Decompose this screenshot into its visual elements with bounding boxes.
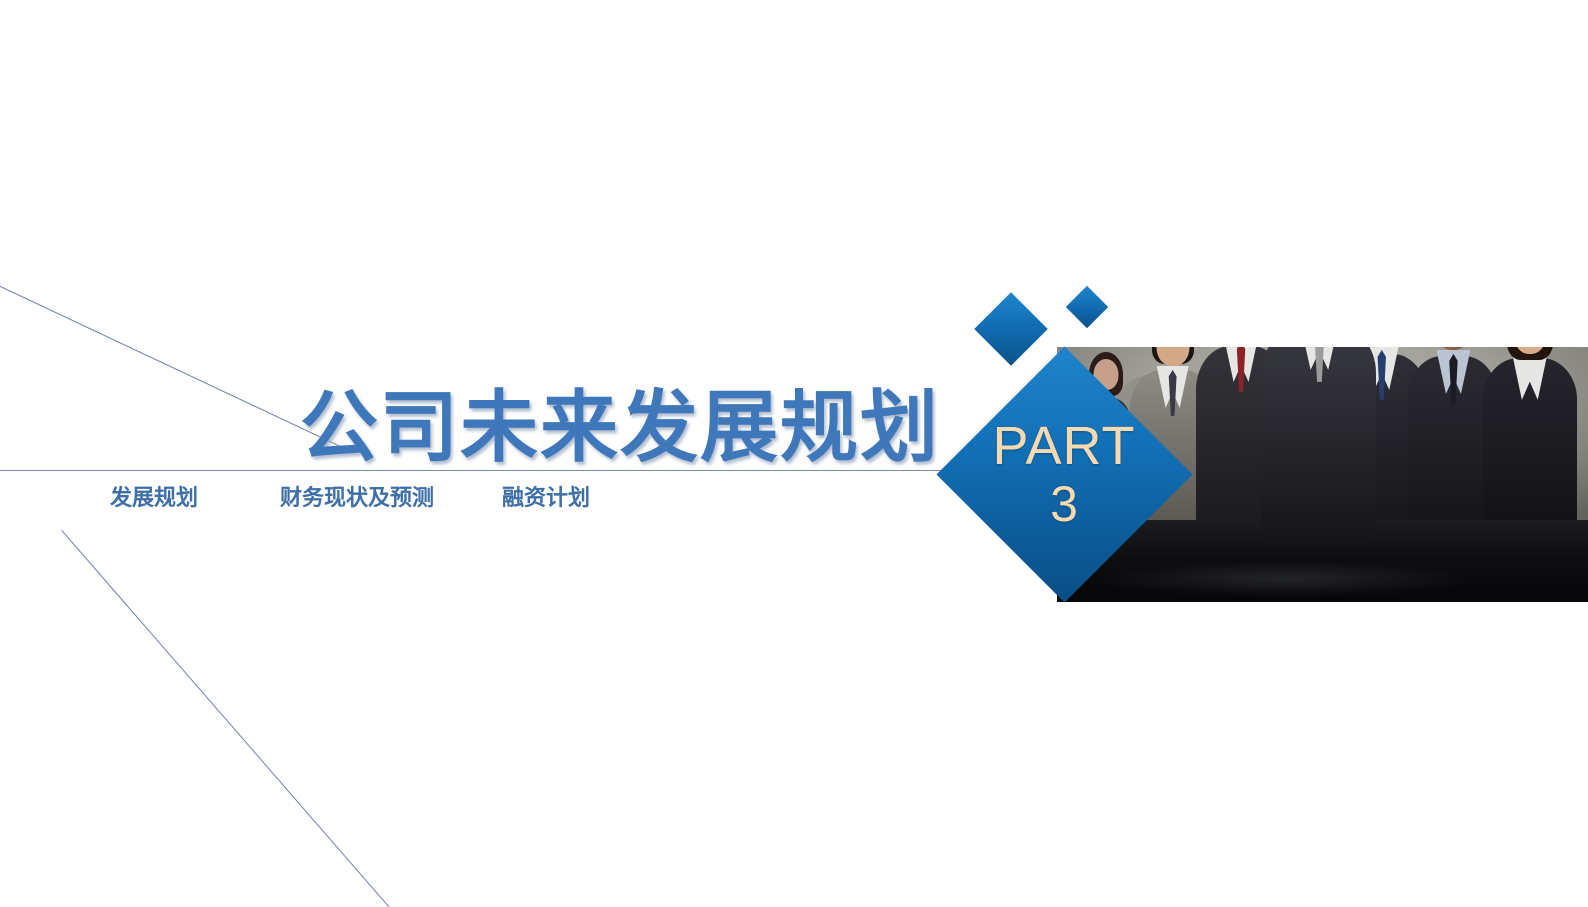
- decorative-diagonal-line-bottom: [61, 530, 390, 907]
- slide-canvas: PART 3 公司未来发展规划 发展规划 财务现状及预测 融资计划: [0, 0, 1588, 907]
- accent-diamond-small: [1066, 286, 1108, 328]
- photo-person-center: [1261, 347, 1377, 546]
- part-badge: PART 3: [936, 346, 1192, 602]
- subtitle-item-1: 发展规划: [110, 480, 198, 512]
- subtitle-item-2: 财务现状及预测: [280, 480, 434, 512]
- subtitle-row: 发展规划 财务现状及预测 融资计划: [110, 480, 590, 512]
- slide-title: 公司未来发展规划: [300, 365, 940, 477]
- person-head: [1436, 347, 1470, 350]
- person-body: [1483, 358, 1577, 546]
- part-badge-diamond: [936, 346, 1192, 602]
- decorative-diagonal-line-top: [0, 282, 343, 448]
- subtitle-item-3: 融资计划: [502, 480, 590, 512]
- photo-person: [1482, 347, 1578, 546]
